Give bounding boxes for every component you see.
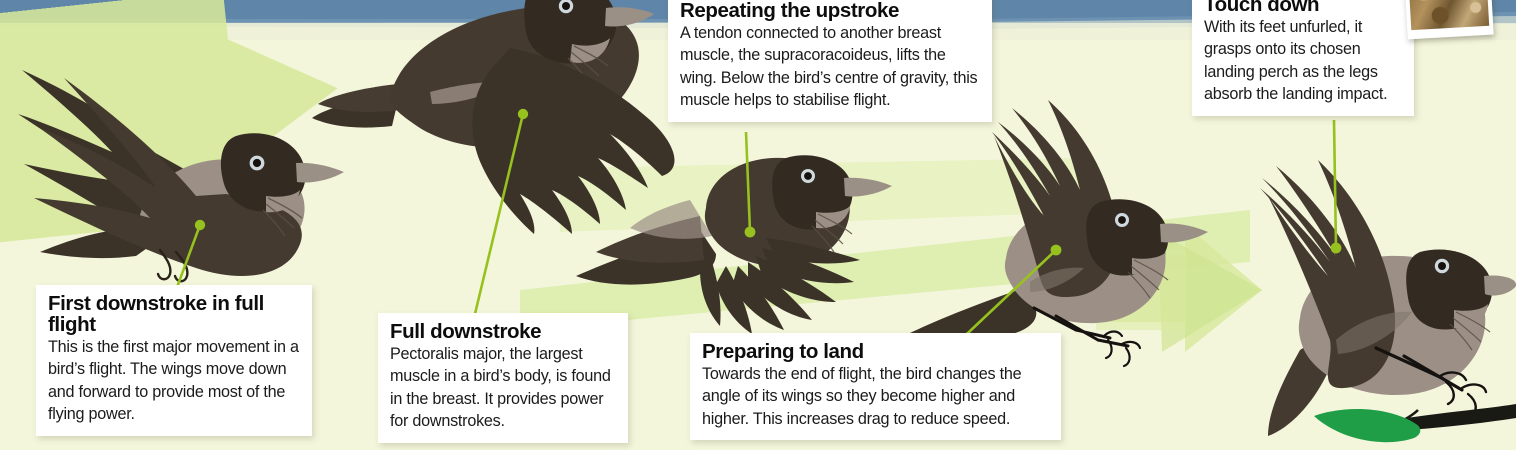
callout-body: A tendon connected to another breast mus… xyxy=(680,22,980,112)
callout-heading: Full downstroke xyxy=(390,321,616,342)
callout-body: Pectoralis major, the largest muscle in … xyxy=(390,343,616,433)
callout-repeating-upstroke: Repeating the upstroke A tendon connecte… xyxy=(668,0,992,122)
callout-preparing-to-land: Preparing to land Towards the end of fli… xyxy=(690,333,1061,440)
nest-photo-image xyxy=(1409,0,1490,30)
callout-heading: First downstroke in full flight xyxy=(48,293,300,335)
callout-first-downstroke: First downstroke in full flight This is … xyxy=(36,285,312,436)
callout-body: With its feet unfurled, it grasps onto i… xyxy=(1204,16,1402,106)
callout-touch-down: Touch down With its feet unfurled, it gr… xyxy=(1192,0,1414,116)
infographic-canvas: First downstroke in full flight This is … xyxy=(0,0,1516,450)
callout-heading: Preparing to land xyxy=(702,341,1049,362)
nest-photo-frame xyxy=(1404,0,1493,39)
callout-heading: Repeating the upstroke xyxy=(680,0,980,21)
callout-full-downstroke: Full downstroke Pectoralis major, the la… xyxy=(378,313,628,443)
callout-heading: Touch down xyxy=(1204,0,1402,15)
callout-body: Towards the end of flight, the bird chan… xyxy=(702,363,1049,430)
callout-body: This is the first major movement in a bi… xyxy=(48,336,300,426)
